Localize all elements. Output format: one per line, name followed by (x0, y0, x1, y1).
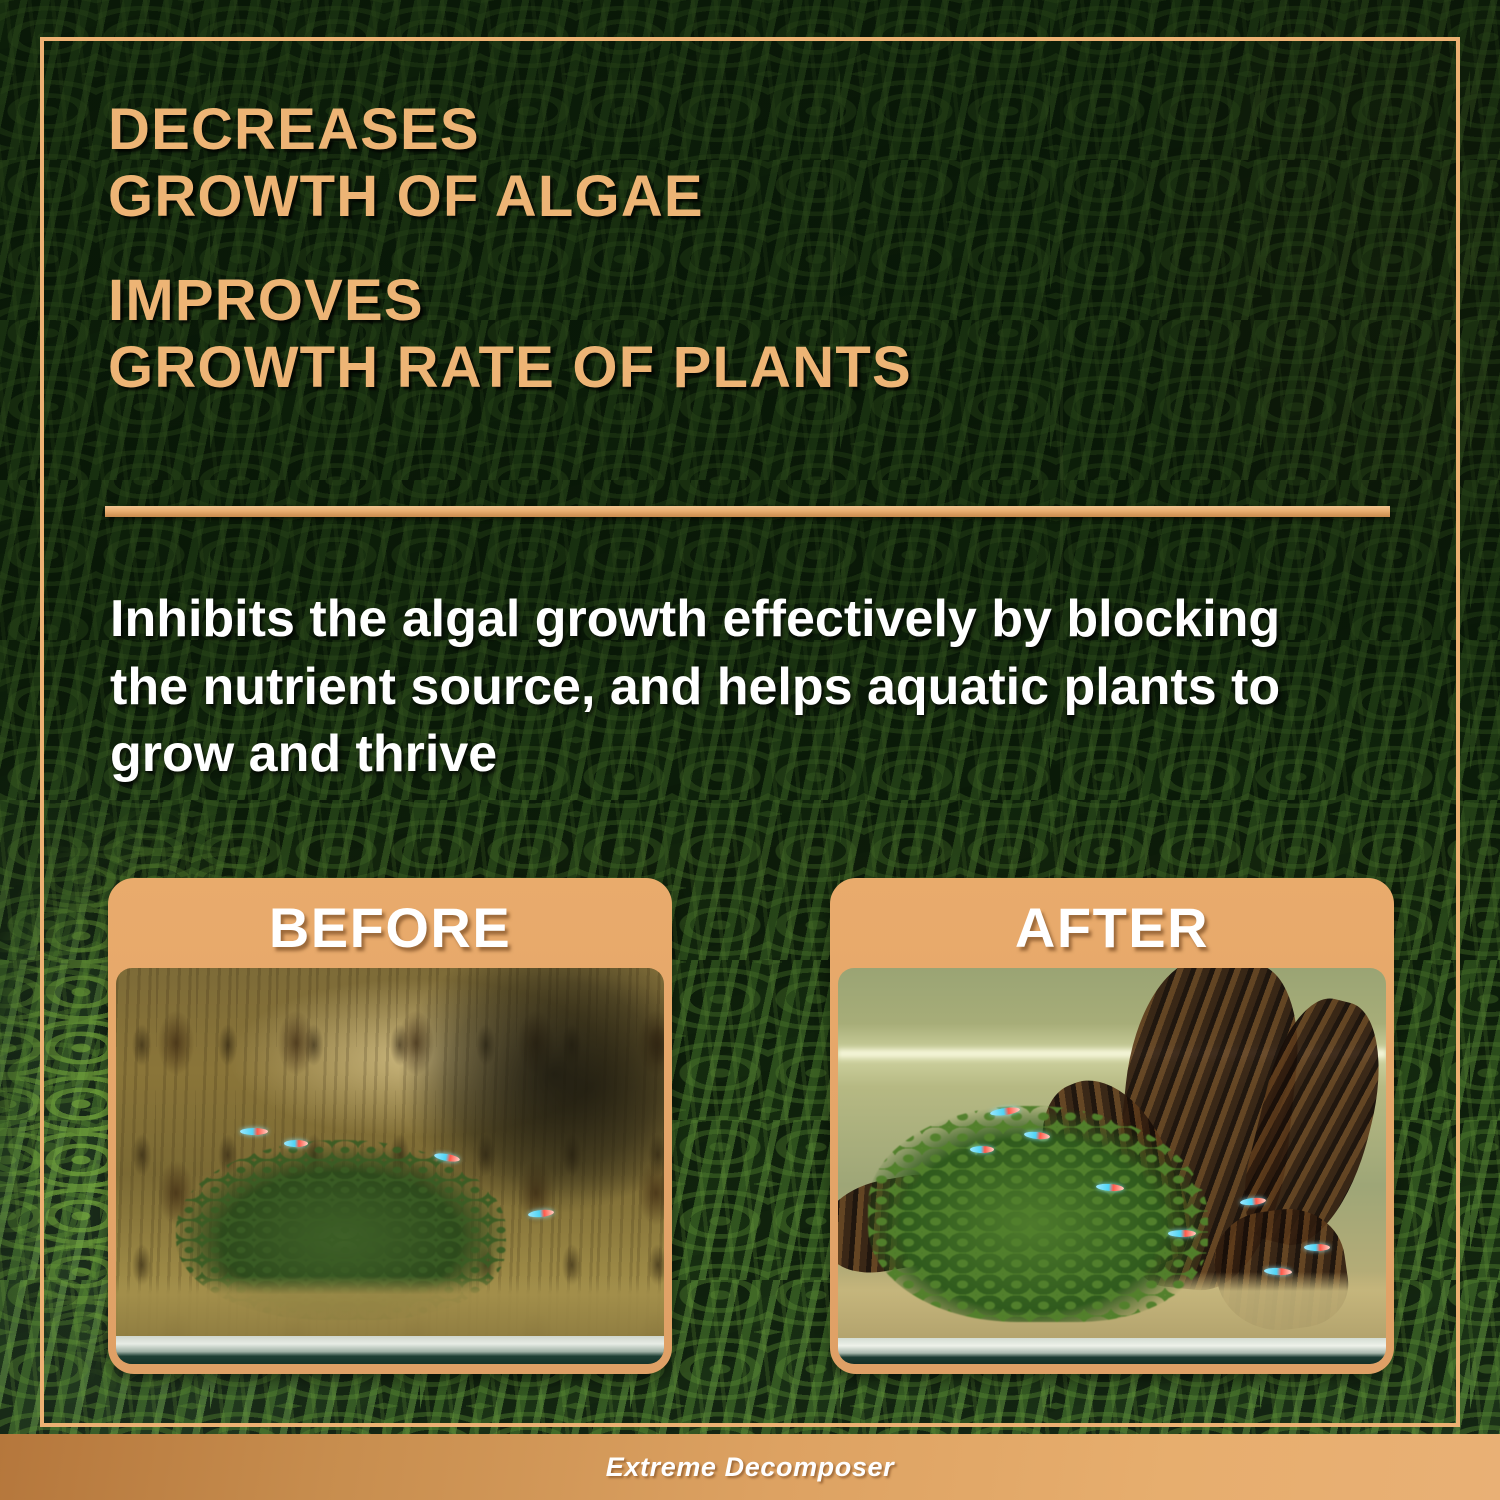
headline-line-4: GROWTH RATE OF PLANTS (108, 334, 1308, 401)
headline-line-2: GROWTH OF ALGAE (108, 163, 1308, 230)
footer-band: Extreme Decomposer (0, 1434, 1500, 1500)
product-name-label: Extreme Decomposer (606, 1452, 894, 1483)
headline-line-1: DECREASES (108, 96, 1308, 163)
before-panel-title: BEFORE (116, 886, 664, 968)
after-panel-title: AFTER (838, 886, 1386, 968)
after-aquarium-photo (838, 968, 1386, 1364)
before-substrate (116, 1276, 664, 1338)
before-panel: BEFORE (108, 878, 672, 1374)
after-panel: AFTER (830, 878, 1394, 1374)
after-tank-rim (838, 1338, 1386, 1364)
fish-icon (1304, 1244, 1330, 1251)
fish-icon (284, 1140, 308, 1147)
product-feature-poster: DECREASES GROWTH OF ALGAE IMPROVES GROWT… (0, 0, 1500, 1500)
before-tank-rim (116, 1336, 664, 1364)
fish-icon (1168, 1230, 1196, 1237)
fish-icon (970, 1146, 994, 1153)
fish-icon (240, 1128, 268, 1135)
headline-block: DECREASES GROWTH OF ALGAE IMPROVES GROWT… (108, 96, 1308, 401)
gold-divider-bar (105, 506, 1390, 517)
subtitle-paragraph: Inhibits the algal growth effectively by… (110, 586, 1340, 789)
headline-group-decreases: DECREASES GROWTH OF ALGAE (108, 96, 1308, 231)
before-aquarium-photo (116, 968, 664, 1364)
before-after-comparison: BEFORE AFTER (0, 878, 1500, 1374)
headline-group-improves: IMPROVES GROWTH RATE OF PLANTS (108, 267, 1308, 402)
headline-line-3: IMPROVES (108, 267, 1308, 334)
